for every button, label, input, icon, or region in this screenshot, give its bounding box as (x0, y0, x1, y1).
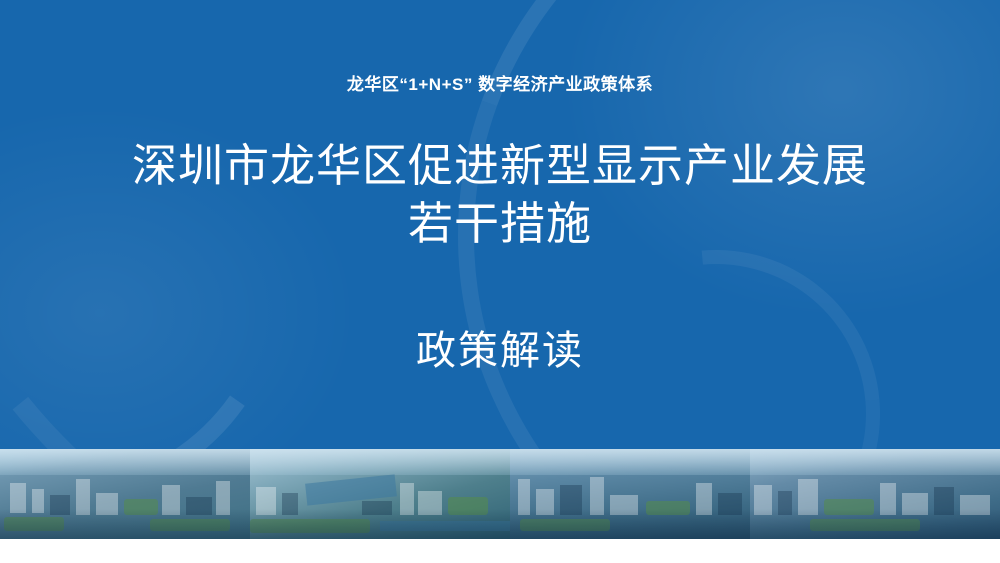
bottom-white-band (0, 539, 1000, 563)
photo-segment-3 (510, 449, 750, 539)
photo-segment-4 (750, 449, 1000, 539)
photo-haze (510, 509, 750, 539)
photo-sky (250, 449, 510, 475)
photo-segment-1 (0, 449, 250, 539)
presentation-slide: 龙华区“1+N+S” 数字经济产业政策体系 深圳市龙华区促进新型显示产业发展 若… (0, 0, 1000, 563)
photo-sky (510, 449, 750, 475)
page-title-line-1: 深圳市龙华区促进新型显示产业发展 (60, 138, 940, 196)
photo-haze (750, 509, 1000, 539)
photo-sky (0, 449, 250, 475)
document-type-label: 政策解读 (0, 318, 1000, 376)
photo-haze (250, 509, 510, 539)
policy-system-header: 龙华区“1+N+S” 数字经济产业政策体系 (0, 70, 1000, 95)
city-photo-strip (0, 449, 1000, 539)
photo-haze (0, 509, 250, 539)
photo-sky (750, 449, 1000, 475)
page-title-line-2: 若干措施 (60, 196, 940, 254)
page-title: 深圳市龙华区促进新型显示产业发展 若干措施 (60, 138, 940, 253)
photo-segment-2 (250, 449, 510, 539)
